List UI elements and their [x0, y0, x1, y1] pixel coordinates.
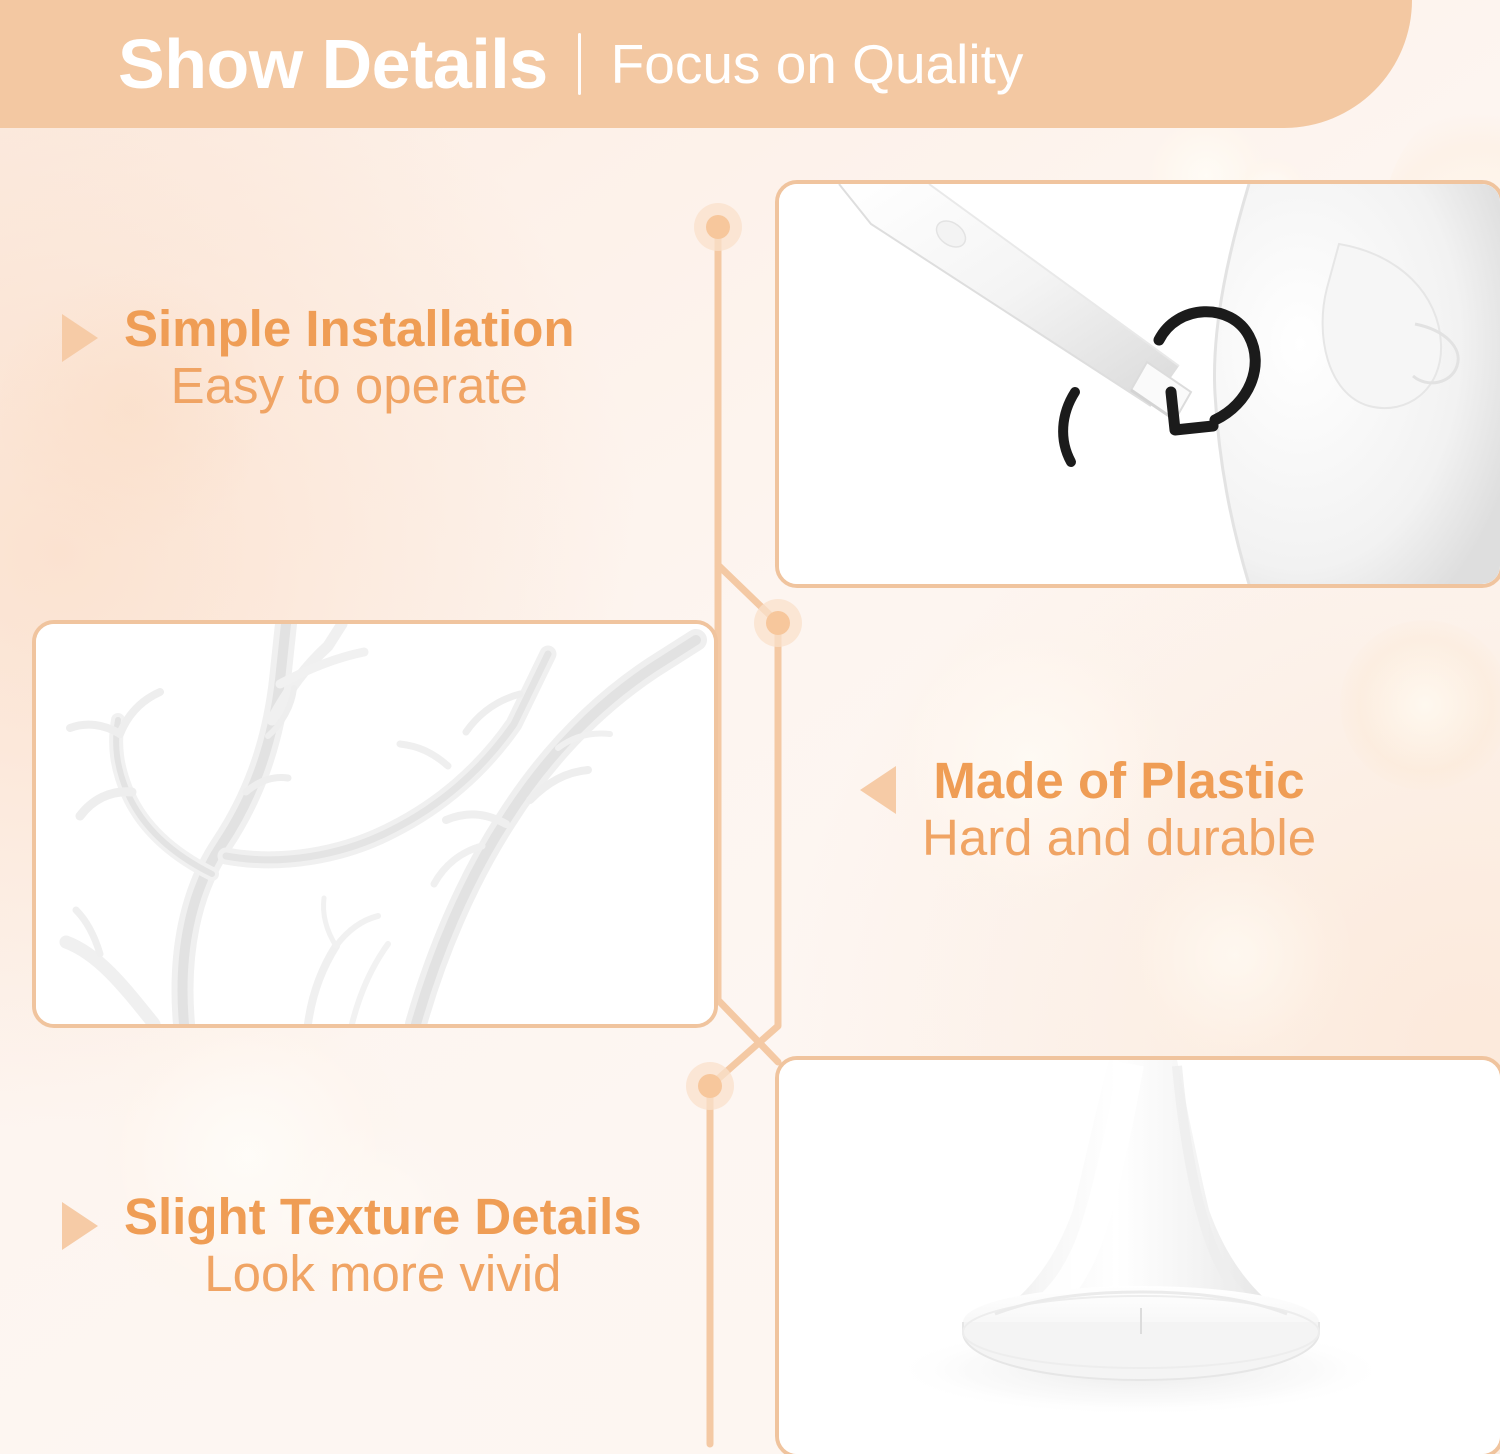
triangle-left-icon [860, 766, 896, 814]
photo-base-stand [779, 1060, 1500, 1454]
feature-line-1: Slight Texture Details [124, 1188, 642, 1245]
feature-text-block: Slight Texture Details Look more vivid [124, 1188, 642, 1302]
feature-line-1: Made of Plastic [933, 752, 1304, 809]
infographic-page: Show Details Focus on Quality [0, 0, 1500, 1454]
connector-node-middle [754, 599, 802, 647]
feature-line-1: Simple Installation [124, 300, 575, 357]
feature-slight-texture-details: Slight Texture Details Look more vivid [62, 1188, 642, 1302]
feature-text-block: Simple Installation Easy to operate [124, 300, 575, 414]
feature-text-block: Made of Plastic Hard and durable [922, 752, 1316, 866]
photo-branch-texture [36, 624, 714, 1024]
triangle-right-icon [62, 314, 98, 362]
photo-card-branch-twist [775, 180, 1500, 588]
feature-line-2: Look more vivid [204, 1245, 561, 1302]
node-dot [706, 215, 730, 239]
connector-node-bottom [686, 1062, 734, 1110]
node-dot [698, 1074, 722, 1098]
photo-branch-twist-joint [779, 184, 1500, 584]
feature-line-2: Hard and durable [922, 809, 1316, 866]
photo-card-base-stand [775, 1056, 1500, 1454]
feature-simple-installation: Simple Installation Easy to operate [62, 300, 575, 414]
triangle-right-icon [62, 1202, 98, 1250]
feature-line-2: Easy to operate [171, 357, 528, 414]
node-dot [766, 611, 790, 635]
feature-made-of-plastic: Made of Plastic Hard and durable [860, 752, 1316, 866]
connector-node-top [694, 203, 742, 251]
photo-card-branch-texture [32, 620, 718, 1028]
